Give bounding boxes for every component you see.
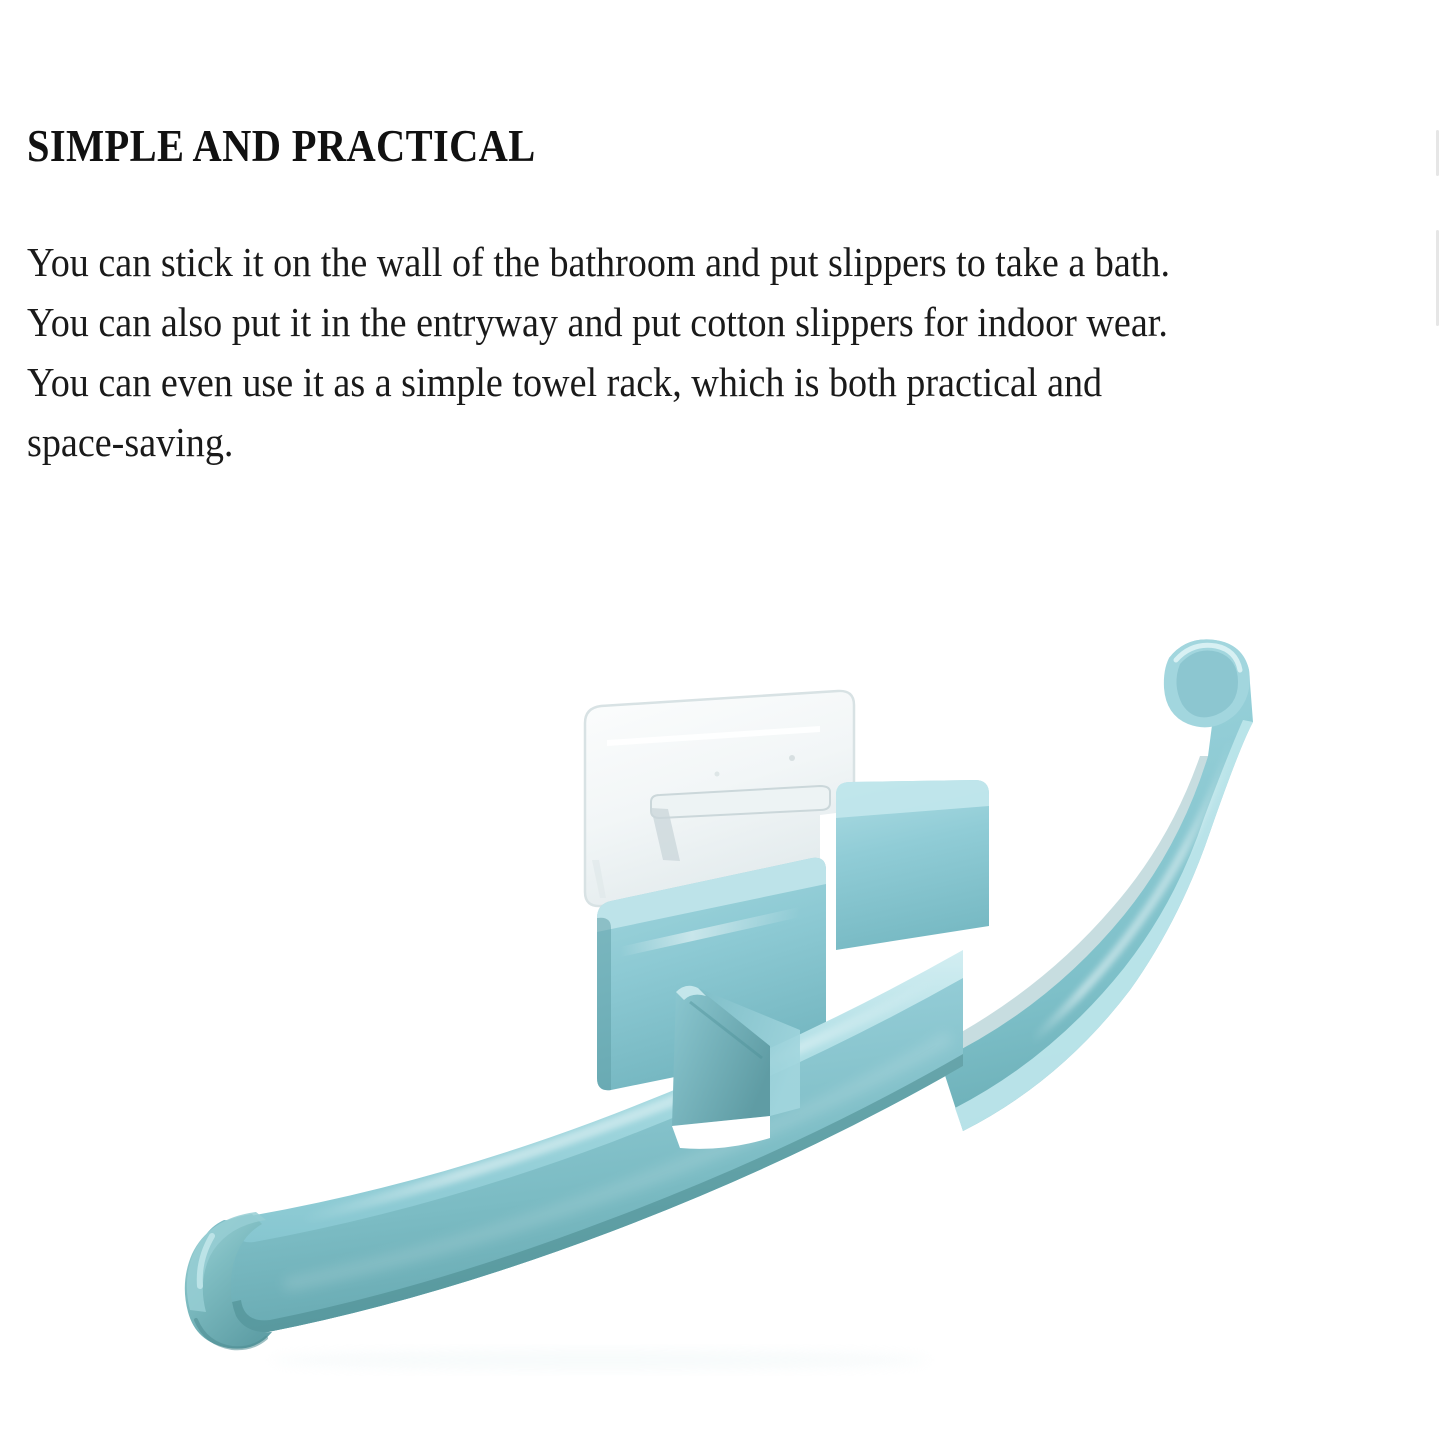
page-edge-mark-upper [1436,130,1439,176]
page-edge-mark-lower [1436,230,1439,326]
body-line-4: space-saving. [27,412,1273,472]
body-copy: You can stick it on the wall of the bath… [27,232,1273,472]
product-photo-slipper-rack [0,560,1445,1390]
body-line-1: You can stick it on the wall of the bath… [27,232,1273,292]
page-title: SIMPLE AND PRACTICAL [27,118,1206,174]
product-image-stage [0,560,1445,1390]
body-line-2: You can also put it in the entryway and … [27,292,1273,352]
text-block: SIMPLE AND PRACTICAL You can stick it on… [27,118,1367,472]
page-canvas: SIMPLE AND PRACTICAL You can stick it on… [0,0,1445,1445]
body-line-3: You can even use it as a simple towel ra… [27,352,1273,412]
